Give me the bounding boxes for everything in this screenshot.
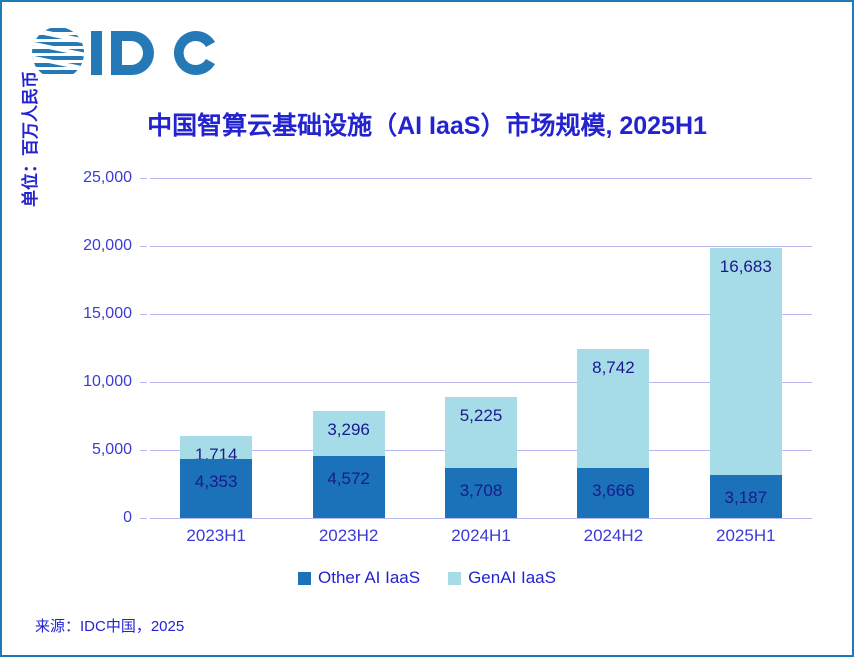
bar-value-label: 4,353 bbox=[195, 473, 238, 490]
y-tick-label: 5,000 bbox=[92, 441, 132, 459]
bar-value-label: 8,742 bbox=[592, 359, 635, 376]
legend-label: Other AI IaaS bbox=[318, 568, 420, 588]
bar-segment-other-ai-iaas[interactable]: 3,187 bbox=[710, 475, 782, 518]
bar-group[interactable]: 8,7423,666 bbox=[577, 349, 649, 518]
bar-segment-genai-iaas[interactable]: 1,714 bbox=[180, 436, 252, 459]
bar-value-label: 5,225 bbox=[460, 407, 503, 424]
bar-value-label: 16,683 bbox=[720, 258, 772, 275]
idc-logo bbox=[29, 18, 217, 88]
bar-segment-other-ai-iaas[interactable]: 4,353 bbox=[180, 459, 252, 518]
bar-group[interactable]: 16,6833,187 bbox=[710, 248, 782, 518]
bar-segment-other-ai-iaas[interactable]: 4,572 bbox=[313, 456, 385, 518]
bar-segment-other-ai-iaas[interactable]: 3,708 bbox=[445, 468, 517, 518]
legend-label: GenAI IaaS bbox=[468, 568, 556, 588]
y-tick-mark bbox=[140, 518, 147, 519]
legend-swatch bbox=[298, 572, 311, 585]
y-tick-label: 0 bbox=[123, 509, 132, 527]
bar-value-label: 3,187 bbox=[725, 489, 768, 506]
x-axis-label: 2023H1 bbox=[186, 526, 246, 546]
bar-segment-genai-iaas[interactable]: 8,742 bbox=[577, 349, 649, 468]
gridline bbox=[150, 518, 812, 519]
x-axis-label: 2024H2 bbox=[584, 526, 644, 546]
y-tick-label: 15,000 bbox=[83, 305, 132, 323]
bar-segment-genai-iaas[interactable]: 5,225 bbox=[445, 397, 517, 468]
y-tick-label: 20,000 bbox=[83, 237, 132, 255]
legend-item[interactable]: GenAI IaaS bbox=[448, 568, 556, 588]
bar-group[interactable]: 3,2964,572 bbox=[313, 411, 385, 518]
bar-segment-genai-iaas[interactable]: 16,683 bbox=[710, 248, 782, 475]
x-axis-label: 2025H1 bbox=[716, 526, 776, 546]
idc-wordmark bbox=[89, 27, 217, 79]
bar-value-label: 3,666 bbox=[592, 482, 635, 499]
x-axis-labels: 2023H12023H22024H12024H22025H1 bbox=[150, 526, 812, 552]
chart-page: 中国智算云基础设施（AI IaaS）市场规模, 2025H1 单位：百万人民币 … bbox=[0, 0, 854, 657]
bars-layer: 1,7144,3533,2964,5725,2253,7088,7423,666… bbox=[150, 178, 812, 518]
bar-group[interactable]: 1,7144,353 bbox=[180, 436, 252, 518]
chart-title: 中国智算云基础设施（AI IaaS）市场规模, 2025H1 bbox=[2, 106, 852, 142]
legend-item[interactable]: Other AI IaaS bbox=[298, 568, 420, 588]
x-axis-label: 2024H1 bbox=[451, 526, 511, 546]
legend-swatch bbox=[448, 572, 461, 585]
y-tick-mark bbox=[140, 450, 147, 451]
y-tick-label: 10,000 bbox=[83, 373, 132, 391]
bar-value-label: 3,708 bbox=[460, 482, 503, 499]
y-axis-title: 单位：百万人民币 bbox=[16, 9, 46, 269]
y-tick-mark bbox=[140, 382, 147, 383]
bar-segment-genai-iaas[interactable]: 3,296 bbox=[313, 411, 385, 456]
bar-segment-other-ai-iaas[interactable]: 3,666 bbox=[577, 468, 649, 518]
y-tick-mark bbox=[140, 178, 147, 179]
bar-value-label: 4,572 bbox=[327, 470, 370, 487]
x-axis-label: 2023H2 bbox=[319, 526, 379, 546]
y-tick-mark bbox=[140, 246, 147, 247]
y-tick-label: 25,000 bbox=[83, 169, 132, 187]
plot-area: 05,00010,00015,00020,00025,000 1,7144,35… bbox=[150, 178, 812, 518]
bar-value-label: 3,296 bbox=[327, 421, 370, 438]
legend: Other AI IaaSGenAI IaaS bbox=[2, 568, 852, 588]
source-note: 来源：IDC中国，2025 bbox=[35, 615, 184, 636]
y-tick-mark bbox=[140, 314, 147, 315]
bar-group[interactable]: 5,2253,708 bbox=[445, 397, 517, 518]
